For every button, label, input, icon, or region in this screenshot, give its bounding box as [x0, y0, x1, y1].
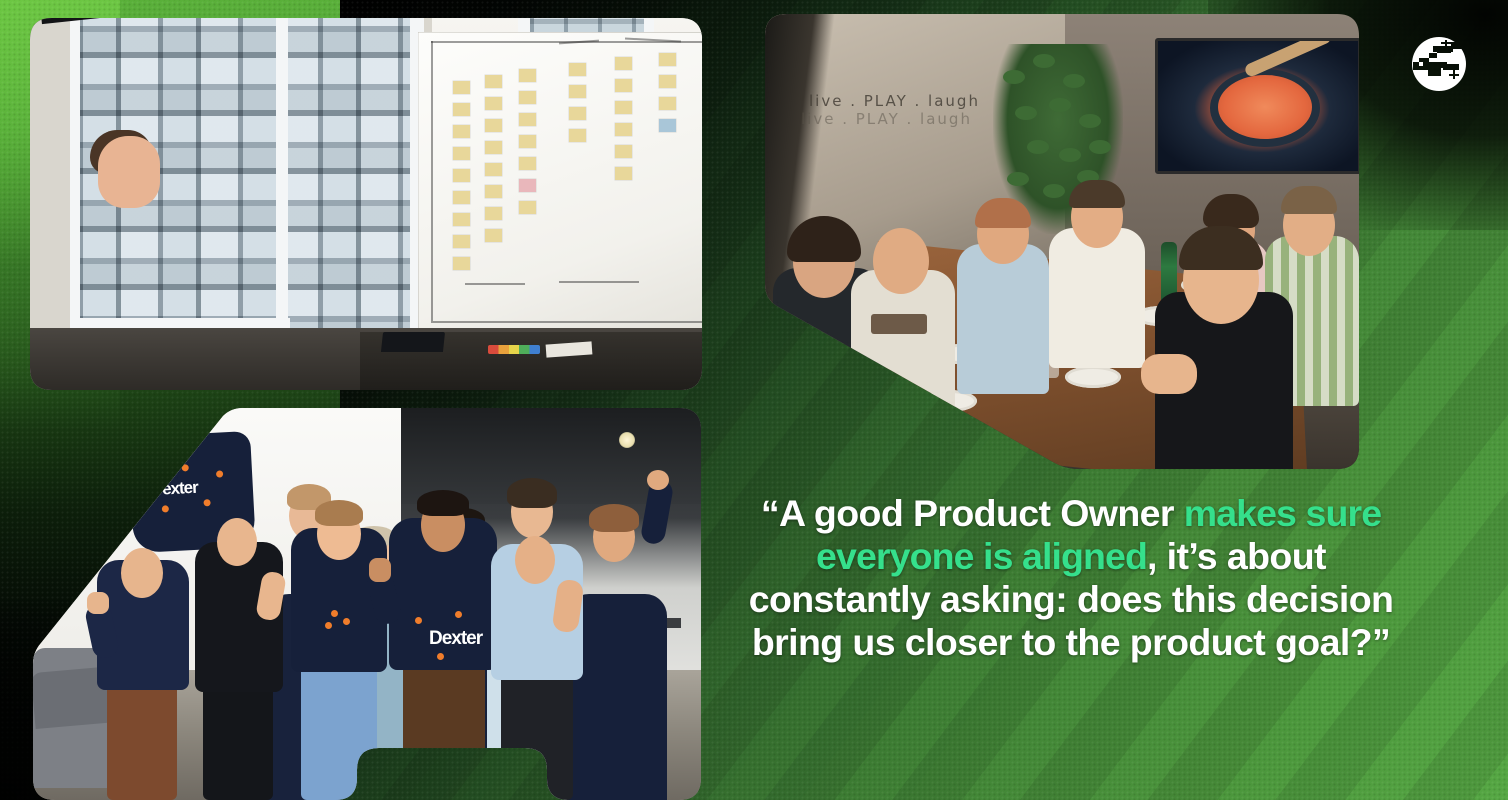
- sticky-note: [519, 113, 536, 126]
- quote-card-canvas: LIZARD live . P: [0, 0, 1508, 800]
- sticky-note: [519, 179, 536, 192]
- quote-segment: “A good Product Owner: [761, 492, 1184, 534]
- tv-screen-content: [1158, 41, 1358, 171]
- sticky-note: [519, 201, 536, 214]
- sticky-note: [453, 213, 470, 226]
- sticky-note: [485, 119, 502, 132]
- person-head: [98, 136, 160, 208]
- brand-dot: [325, 622, 332, 629]
- photo-workshop: LIZARD: [30, 18, 702, 390]
- sticky-note: [615, 123, 632, 136]
- sticky-note: [453, 169, 470, 182]
- whiteboard-scribble: [465, 283, 525, 285]
- raised-fist: [647, 470, 669, 490]
- sticky-note: [453, 235, 470, 248]
- brand-dot: [216, 470, 223, 477]
- person-hand: [1141, 354, 1197, 394]
- wall-text-shadow: live . PLAY . laugh: [801, 110, 972, 128]
- shirt-graphic: [871, 314, 927, 334]
- sticky-note: [569, 63, 586, 76]
- window-mullion: [70, 18, 80, 348]
- sticky-note: [659, 119, 676, 132]
- sticky-note: [569, 107, 586, 120]
- wall-tv: [1155, 38, 1359, 174]
- person-hair: [1281, 186, 1337, 214]
- person-hair: [589, 504, 639, 532]
- workshop-whiteboard: [418, 32, 702, 332]
- brand-dot: [415, 617, 422, 624]
- person-legs: [107, 680, 177, 800]
- sticky-note: [615, 145, 632, 158]
- sticky-note: [453, 103, 470, 116]
- sticky-note: [453, 191, 470, 204]
- sticky-note: [485, 163, 502, 176]
- person-head: [217, 518, 257, 566]
- sticky-note: [519, 69, 536, 82]
- sticky-note: [485, 75, 502, 88]
- whiteboard-line: [431, 321, 702, 323]
- photo-workshop-artwork: LIZARD: [30, 18, 702, 390]
- marker-set: [488, 345, 540, 354]
- sticky-note: [659, 53, 676, 66]
- person-legs: [203, 682, 273, 800]
- quote-block: “A good Product Owner makes sure everyon…: [740, 492, 1402, 664]
- sticky-note: [485, 97, 502, 110]
- sticky-note: [615, 79, 632, 92]
- sticky-note: [519, 91, 536, 104]
- whiteboard-scribble: [559, 281, 639, 283]
- sticky-note: [569, 129, 586, 142]
- tomato-sauce: [1218, 75, 1312, 139]
- brand-dot: [437, 653, 444, 660]
- ceiling-light: [619, 432, 635, 448]
- wall-text: live . PLAY . laugh: [809, 92, 980, 110]
- sticky-note: [659, 97, 676, 110]
- sticky-note: [519, 135, 536, 148]
- brand-dot: [343, 618, 350, 625]
- lizard-logo[interactable]: [1407, 32, 1471, 96]
- whiteboard-line: [431, 41, 433, 321]
- sticky-note: [453, 257, 470, 270]
- tshirt-brand: Dexter: [429, 628, 482, 650]
- sticky-note: [569, 85, 586, 98]
- person-head: [873, 228, 929, 294]
- sticky-note: [453, 125, 470, 138]
- plate: [1065, 366, 1121, 388]
- person-team: [189, 480, 289, 800]
- person-hair: [1203, 194, 1259, 228]
- person-torso: [1049, 228, 1145, 368]
- laptop: [381, 332, 445, 352]
- thumbs-up: [369, 558, 391, 582]
- person-head: [515, 536, 555, 584]
- person-torso: [957, 244, 1049, 394]
- sticky-note: [485, 229, 502, 242]
- sticky-note: [659, 75, 676, 88]
- quote-text: “A good Product Owner makes sure everyon…: [740, 492, 1402, 664]
- thumbs-up: [87, 592, 109, 614]
- sticky-note: [615, 57, 632, 70]
- sticky-note: [453, 147, 470, 160]
- lizard-logo-icon: [1407, 32, 1471, 96]
- sticky-note: [485, 185, 502, 198]
- window-mullion: [276, 18, 288, 348]
- sticky-note: [453, 81, 470, 94]
- sticky-note: [519, 157, 536, 170]
- brand-dot: [455, 611, 462, 618]
- brand-dot: [331, 610, 338, 617]
- person-hair: [315, 500, 363, 526]
- sticky-note: [615, 167, 632, 180]
- sticky-note: [485, 207, 502, 220]
- person-hair: [417, 490, 469, 516]
- sticky-note: [485, 141, 502, 154]
- person-head: [121, 548, 163, 598]
- sticky-note: [615, 101, 632, 114]
